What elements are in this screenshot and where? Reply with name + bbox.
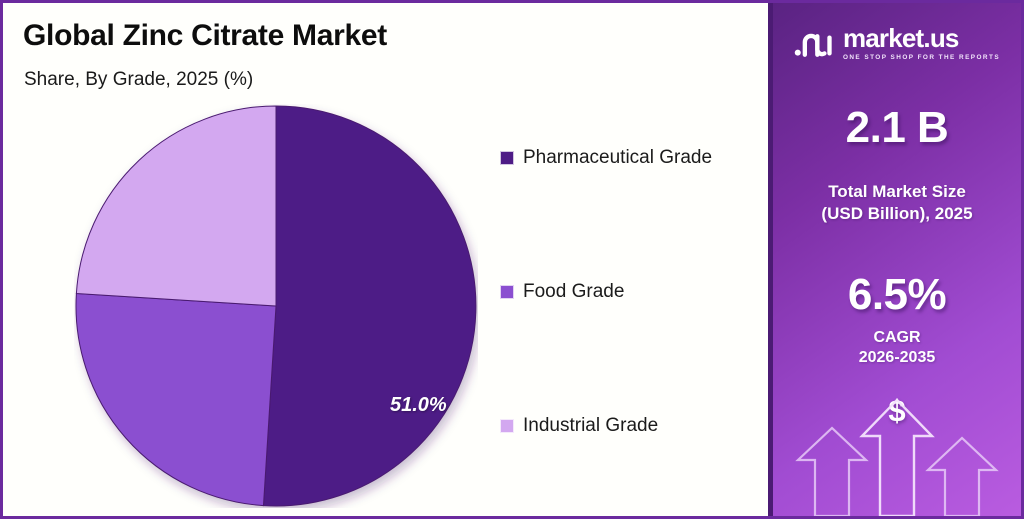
pie-slice-label-pharmaceutical-grade: 51.0% [390, 394, 447, 417]
chart-area: Global Zinc Citrate Market Share, By Gra… [3, 3, 769, 516]
legend-item-label: Pharmaceutical Grade [523, 147, 712, 169]
logo-text-block: market.us ONE STOP SHOP FOR THE REPORTS [843, 25, 1000, 61]
infographic-card: Global Zinc Citrate Market Share, By Gra… [0, 0, 1024, 519]
legend-swatch-icon [500, 151, 514, 165]
caption-line-1: Total Market Size [773, 181, 1021, 203]
pie-slice-industrial-grade[interactable] [76, 106, 276, 306]
legend-item-pharmaceutical-grade[interactable]: Pharmaceutical Grade [500, 147, 760, 169]
legend: Pharmaceutical Grade Food Grade Industri… [500, 147, 760, 437]
total-market-size-value: 2.1 B [773, 103, 1021, 153]
stats-panel: market.us ONE STOP SHOP FOR THE REPORTS … [768, 3, 1021, 516]
pie-chart-svg [74, 104, 478, 508]
logo-tagline: ONE STOP SHOP FOR THE REPORTS [843, 54, 1000, 61]
pie-chart: 51.0% [74, 104, 478, 508]
caption-line-1: CAGR [773, 328, 1021, 348]
brand-logo[interactable]: market.us ONE STOP SHOP FOR THE REPORTS [773, 25, 1021, 61]
cagr-value: 6.5% [773, 270, 1021, 320]
legend-item-industrial-grade[interactable]: Industrial Grade [500, 415, 760, 437]
legend-swatch-icon [500, 285, 514, 299]
legend-item-label: Food Grade [523, 281, 624, 303]
pie-slice-pharmaceutical-grade[interactable] [263, 106, 475, 506]
market-us-logo-icon [794, 26, 834, 60]
arrow-up-right-icon [928, 438, 996, 516]
chart-subtitle: Share, By Grade, 2025 (%) [24, 69, 253, 91]
caption-line-2: (USD Billion), 2025 [773, 203, 1021, 225]
total-market-size-caption: Total Market Size (USD Billion), 2025 [773, 181, 1021, 225]
arrow-up-left-icon [798, 428, 866, 516]
growth-arrows-icon [784, 376, 1010, 516]
legend-item-food-grade[interactable]: Food Grade [500, 281, 760, 303]
caption-line-2: 2026-2035 [773, 348, 1021, 368]
pie-slice-food-grade[interactable] [76, 293, 276, 505]
cagr-caption: CAGR 2026-2035 [773, 328, 1021, 369]
legend-item-label: Industrial Grade [523, 415, 658, 437]
page-title: Global Zinc Citrate Market [23, 19, 387, 53]
arrow-up-center-icon [862, 400, 932, 516]
legend-swatch-icon [500, 419, 514, 433]
logo-wordmark: market.us [843, 25, 1000, 51]
